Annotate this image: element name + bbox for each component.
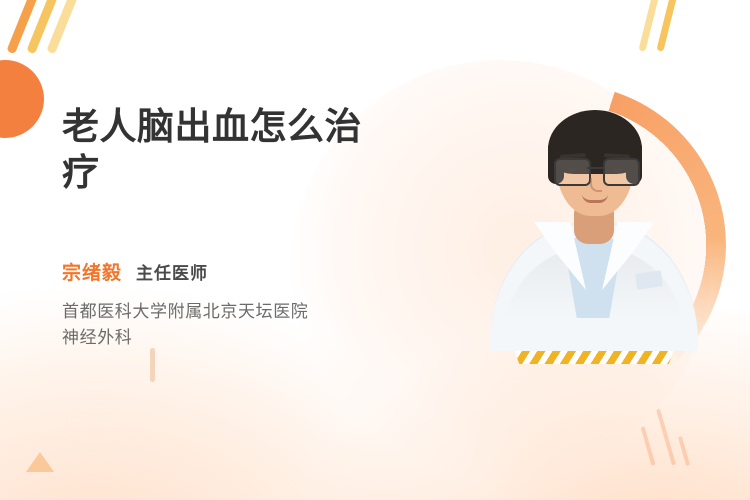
hospital-name: 首都医科大学附属北京天坛医院 <box>62 299 442 325</box>
text-block: 老人脑出血怎么治疗 宗绪毅 主任医师 首都医科大学附属北京天坛医院 神经外科 <box>62 104 442 351</box>
glasses-lens-left <box>554 158 591 186</box>
top-right-bars-decoration <box>608 0 688 56</box>
doctor-professional-title: 主任医师 <box>136 259 208 284</box>
left-half-circle-decoration <box>0 60 44 138</box>
triangle-decoration <box>26 452 54 472</box>
glasses-bridge <box>587 167 603 169</box>
portrait-clip <box>478 96 710 364</box>
small-bar-decoration <box>150 348 155 382</box>
department-name: 神经外科 <box>62 325 442 351</box>
doctor-info-card: 老人脑出血怎么治疗 宗绪毅 主任医师 首都医科大学附属北京天坛医院 神经外科 <box>0 0 750 500</box>
page-title: 老人脑出血怎么治疗 <box>62 104 392 196</box>
doctor-byline: 宗绪毅 主任医师 <box>62 258 442 285</box>
top-left-stripes-decoration <box>18 0 128 50</box>
doctor-name: 宗绪毅 <box>62 258 122 285</box>
doctor-affiliation: 首都医科大学附属北京天坛医院 神经外科 <box>62 299 442 351</box>
nose <box>590 178 602 192</box>
bottom-right-lines-decoration <box>600 396 720 466</box>
glasses-lens-right <box>603 158 640 186</box>
doctor-portrait <box>478 96 710 364</box>
